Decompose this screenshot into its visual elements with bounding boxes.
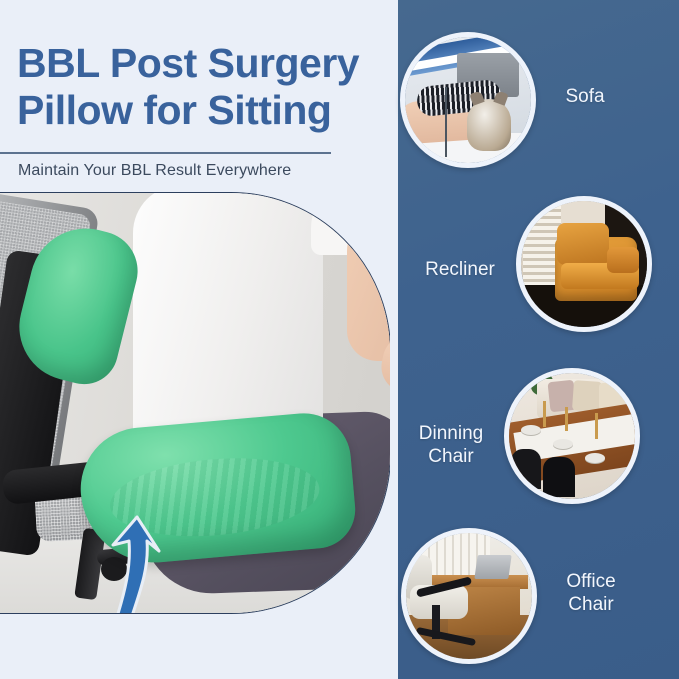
dining-chair-2 [543,457,575,497]
dining-candle-3 [595,413,598,439]
dinning-chair-scene [509,373,635,499]
infographic-root: BBL Post Surgery Pillow for Sitting Main… [0,0,679,679]
page-title: BBL Post Surgery Pillow for Sitting [17,40,397,134]
page-title-line-1: BBL Post Surgery [17,40,397,87]
sofa-lamp-rod [445,87,447,157]
use-case-label-recliner: Recliner [405,258,515,281]
dining-candle-2 [565,407,568,431]
office-chair-scene [406,533,532,659]
use-case-circle-office-chair[interactable] [401,528,537,664]
use-case-label-dinning-chair: Dinning Chair [396,422,506,468]
upward-lift-arrow-icon [101,515,165,614]
dining-chair-1 [511,449,541,489]
sofa-cat [467,99,511,151]
main-product-photo [0,192,391,614]
person-upper-arm [347,211,391,361]
panel-left-gap [390,0,398,679]
dining-plate-1 [521,425,541,435]
dining-candle-1 [543,401,546,427]
dining-cushion-2 [572,380,602,412]
office-laptop [474,555,511,579]
person-torso [133,192,323,451]
use-case-circle-sofa[interactable] [400,32,536,168]
recliner-chair-backrest [557,223,609,265]
use-case-label-sofa: Sofa [530,85,640,108]
use-case-label-office-chair: Office Chair [536,570,646,616]
dining-plate-3 [585,453,605,463]
header-block: BBL Post Surgery Pillow for Sitting Main… [0,0,400,190]
recliner-scene [521,201,647,327]
title-divider [0,152,331,154]
recliner-chair-armrest [607,247,639,273]
use-case-circle-recliner[interactable] [516,196,652,332]
page-title-line-2: Pillow for Sitting [17,87,397,134]
dining-plate-2 [553,439,573,449]
page-subtitle: Maintain Your BBL Result Everywhere [18,162,291,180]
use-case-circle-dinning-chair[interactable] [504,368,640,504]
sofa-scene [405,37,531,163]
